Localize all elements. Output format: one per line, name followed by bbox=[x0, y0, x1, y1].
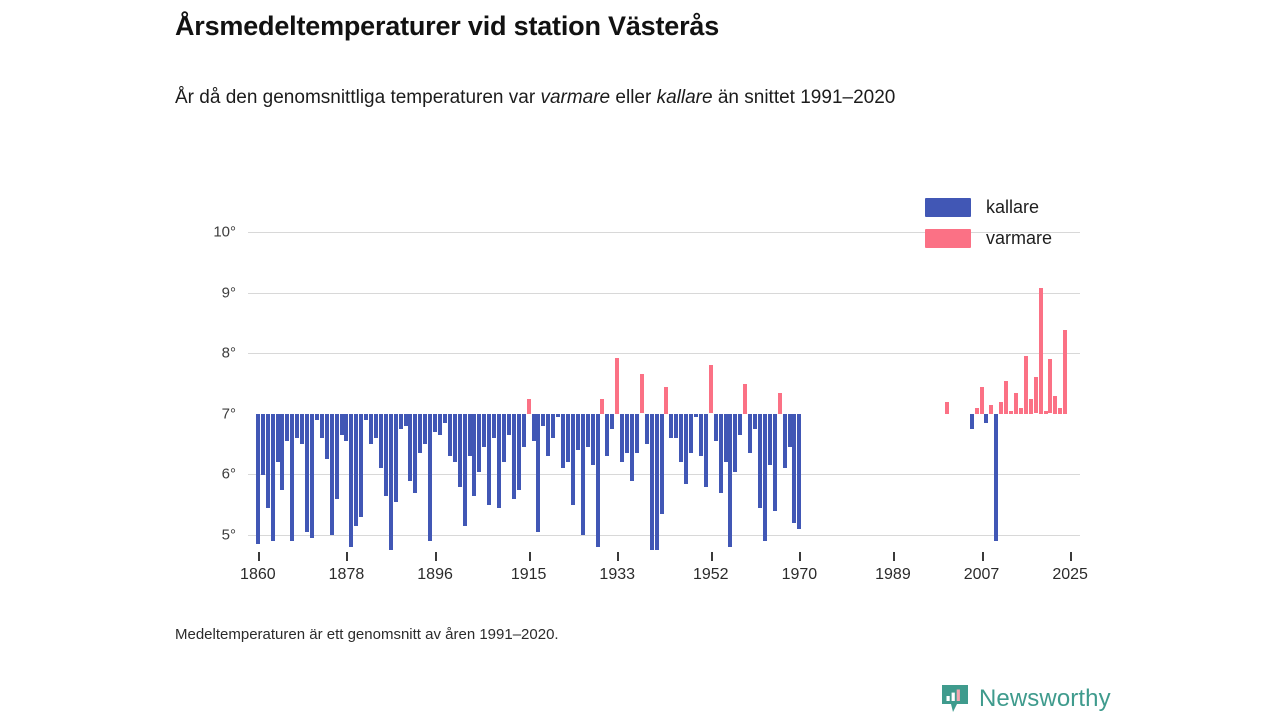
x-axis-tick bbox=[711, 552, 713, 561]
chart-bar[interactable] bbox=[423, 414, 427, 444]
chart-bar[interactable] bbox=[674, 414, 678, 438]
chart-bar[interactable] bbox=[482, 414, 486, 447]
chart-bar[interactable] bbox=[256, 414, 260, 544]
x-axis-tick bbox=[1070, 552, 1072, 561]
chart-bar[interactable] bbox=[325, 414, 329, 459]
chart-bar[interactable] bbox=[492, 414, 496, 438]
chart-bar[interactable] bbox=[502, 414, 506, 462]
chart-bar[interactable] bbox=[1039, 288, 1043, 414]
newsworthy-wordmark: Newsworthy bbox=[979, 685, 1111, 713]
chart-bar[interactable] bbox=[522, 414, 526, 447]
chart-bar[interactable] bbox=[655, 414, 659, 550]
chart-bar[interactable] bbox=[453, 414, 457, 462]
chart-bar[interactable] bbox=[640, 374, 644, 413]
chart-footnote: Medeltemperaturen är ett genomsnitt av å… bbox=[175, 626, 559, 643]
chart-bar[interactable] bbox=[389, 414, 393, 550]
chart-bar[interactable] bbox=[280, 414, 284, 490]
chart-bar[interactable] bbox=[753, 414, 757, 429]
chart-bar[interactable] bbox=[310, 414, 314, 538]
x-axis-label: 1860 bbox=[240, 566, 276, 584]
chart-bar[interactable] bbox=[630, 414, 634, 481]
chart-bar[interactable] bbox=[527, 399, 531, 414]
chart-bar[interactable] bbox=[704, 414, 708, 487]
chart-bar[interactable] bbox=[625, 414, 629, 453]
chart-bar[interactable] bbox=[699, 414, 703, 456]
newsworthy-logo[interactable]: Newsworthy bbox=[941, 684, 1111, 714]
chart-bar[interactable] bbox=[541, 414, 545, 426]
x-axis-tick bbox=[529, 552, 531, 561]
chart-bar[interactable] bbox=[448, 414, 452, 456]
x-axis-tick bbox=[346, 552, 348, 561]
chart-legend: kallare varmare bbox=[925, 193, 1052, 255]
chart-bar[interactable] bbox=[586, 414, 590, 447]
chart-bar[interactable] bbox=[728, 414, 732, 547]
x-axis-label: 1878 bbox=[329, 566, 365, 584]
y-axis-label: 10° bbox=[180, 224, 236, 241]
chart-bar[interactable] bbox=[758, 414, 762, 508]
chart-bar[interactable] bbox=[295, 414, 299, 438]
chart-bar[interactable] bbox=[551, 414, 555, 438]
legend-swatch-varmare-icon bbox=[925, 229, 971, 248]
y-axis-label: 6° bbox=[180, 466, 236, 483]
chart-bar[interactable] bbox=[615, 358, 619, 414]
chart-bar[interactable] bbox=[344, 414, 348, 441]
chart-bar[interactable] bbox=[600, 399, 604, 414]
x-axis-label: 1915 bbox=[511, 566, 547, 584]
chart-bar[interactable] bbox=[364, 414, 368, 420]
chart-bar[interactable] bbox=[1053, 396, 1057, 414]
x-axis-label: 1896 bbox=[417, 566, 453, 584]
chart-bar[interactable] bbox=[635, 414, 639, 453]
chart-bar[interactable] bbox=[664, 387, 668, 414]
chart-bar[interactable] bbox=[546, 414, 550, 456]
x-axis-label: 2007 bbox=[964, 566, 1000, 584]
chart-bar[interactable] bbox=[394, 414, 398, 502]
chart-bar[interactable] bbox=[408, 414, 412, 481]
chart-bar[interactable] bbox=[709, 365, 713, 413]
chart-bar[interactable] bbox=[443, 414, 447, 423]
x-axis-tick bbox=[982, 552, 984, 561]
chart-bar[interactable] bbox=[999, 402, 1003, 414]
chart-bar[interactable] bbox=[576, 414, 580, 450]
chart-bar[interactable] bbox=[620, 414, 624, 462]
chart-bar[interactable] bbox=[369, 414, 373, 444]
chart-bar[interactable] bbox=[980, 387, 984, 414]
chart-bar[interactable] bbox=[536, 414, 540, 532]
chart-bar[interactable] bbox=[1058, 408, 1062, 414]
chart-bar[interactable] bbox=[320, 414, 324, 438]
y-gridline bbox=[248, 353, 1080, 354]
chart-bar[interactable] bbox=[359, 414, 363, 517]
y-axis-label: 7° bbox=[180, 405, 236, 422]
chart-bar[interactable] bbox=[1019, 408, 1023, 414]
chart-bar[interactable] bbox=[1004, 381, 1008, 414]
chart-bar[interactable] bbox=[743, 384, 747, 414]
x-axis-tick bbox=[617, 552, 619, 561]
chart-bar[interactable] bbox=[507, 414, 511, 435]
chart-bar[interactable] bbox=[266, 414, 270, 508]
chart-bar[interactable] bbox=[684, 414, 688, 484]
y-gridline bbox=[248, 293, 1080, 294]
x-axis-tick bbox=[258, 552, 260, 561]
chart-bar[interactable] bbox=[581, 414, 585, 535]
chart-bar[interactable] bbox=[975, 408, 979, 414]
x-axis-tick bbox=[435, 552, 437, 561]
chart-bar[interactable] bbox=[596, 414, 600, 547]
y-axis-label: 8° bbox=[180, 345, 236, 362]
chart-bar[interactable] bbox=[1029, 399, 1033, 414]
chart-bar[interactable] bbox=[349, 414, 353, 547]
chart-bar[interactable] bbox=[945, 402, 949, 414]
y-gridline bbox=[248, 535, 1080, 536]
chart-bar[interactable] bbox=[354, 414, 358, 526]
chart-bar[interactable] bbox=[335, 414, 339, 499]
chart-bar[interactable] bbox=[290, 414, 294, 541]
chart-bar[interactable] bbox=[738, 414, 742, 435]
chart-bar[interactable] bbox=[768, 414, 772, 465]
chart-bar[interactable] bbox=[778, 393, 782, 414]
chart-bar[interactable] bbox=[561, 414, 565, 468]
chart-bar[interactable] bbox=[330, 414, 334, 535]
chart-bar[interactable] bbox=[566, 414, 570, 462]
chart-bar[interactable] bbox=[512, 414, 516, 499]
x-axis-label: 1970 bbox=[782, 566, 818, 584]
x-axis-label: 1989 bbox=[875, 566, 911, 584]
y-axis-label: 5° bbox=[180, 526, 236, 543]
chart-bar[interactable] bbox=[418, 414, 422, 453]
chart-bar[interactable] bbox=[374, 414, 378, 438]
chart-bar[interactable] bbox=[384, 414, 388, 496]
x-axis-label: 1952 bbox=[693, 566, 729, 584]
y-axis-label: 9° bbox=[180, 284, 236, 301]
legend-swatch-kallare-icon bbox=[925, 198, 971, 217]
chart-bar[interactable] bbox=[428, 414, 432, 541]
chart-bar[interactable] bbox=[305, 414, 309, 532]
x-axis-label: 1933 bbox=[599, 566, 635, 584]
chart-bar[interactable] bbox=[477, 414, 481, 472]
chart-bar[interactable] bbox=[458, 414, 462, 487]
chart-bar[interactable] bbox=[497, 414, 501, 508]
chart-bar[interactable] bbox=[748, 414, 752, 453]
chart-bar[interactable] bbox=[689, 414, 693, 453]
chart-bar[interactable] bbox=[719, 414, 723, 493]
temperature-bar-chart: 5°6°7°8°9°10°186018781896191519331952197… bbox=[0, 0, 1280, 720]
chart-bar[interactable] bbox=[438, 414, 442, 435]
chart-bar[interactable] bbox=[315, 414, 319, 420]
chart-bar[interactable] bbox=[679, 414, 683, 462]
chart-bar[interactable] bbox=[591, 414, 595, 465]
chart-bar[interactable] bbox=[1009, 411, 1013, 414]
chart-bar[interactable] bbox=[650, 414, 654, 550]
legend-item-varmare[interactable]: varmare bbox=[925, 224, 1052, 253]
chart-bar[interactable] bbox=[984, 414, 988, 423]
legend-label-kallare: kallare bbox=[986, 197, 1039, 218]
chart-bar[interactable] bbox=[300, 414, 304, 444]
chart-bar[interactable] bbox=[994, 414, 998, 541]
chart-bar[interactable] bbox=[610, 414, 614, 429]
chart-bar[interactable] bbox=[797, 414, 801, 529]
chart-bar[interactable] bbox=[379, 414, 383, 468]
chart-bar[interactable] bbox=[763, 414, 767, 541]
bar-chart-bubble-icon bbox=[941, 684, 969, 714]
chart-bar[interactable] bbox=[1063, 330, 1067, 414]
y-gridline bbox=[248, 474, 1080, 475]
legend-item-kallare[interactable]: kallare bbox=[925, 193, 1052, 222]
chart-bar[interactable] bbox=[694, 414, 698, 417]
chart-bar[interactable] bbox=[605, 414, 609, 456]
x-axis-tick bbox=[799, 552, 801, 561]
chart-bar[interactable] bbox=[271, 414, 275, 541]
chart-bar[interactable] bbox=[463, 414, 467, 526]
chart-bar[interactable] bbox=[472, 414, 476, 496]
chart-bar[interactable] bbox=[261, 414, 265, 475]
chart-bar[interactable] bbox=[413, 414, 417, 493]
chart-bar[interactable] bbox=[556, 414, 560, 417]
chart-bar[interactable] bbox=[1014, 393, 1018, 414]
chart-bar[interactable] bbox=[669, 414, 673, 438]
chart-bar[interactable] bbox=[1048, 359, 1052, 413]
chart-bar[interactable] bbox=[783, 414, 787, 468]
chart-bar[interactable] bbox=[399, 414, 403, 429]
chart-bar[interactable] bbox=[571, 414, 575, 505]
chart-bar[interactable] bbox=[773, 414, 777, 511]
chart-bar[interactable] bbox=[714, 414, 718, 441]
legend-label-varmare: varmare bbox=[986, 228, 1052, 249]
chart-bar[interactable] bbox=[517, 414, 521, 490]
chart-bar[interactable] bbox=[487, 414, 491, 505]
chart-bar[interactable] bbox=[970, 414, 974, 429]
chart-bar[interactable] bbox=[1024, 356, 1028, 414]
x-axis-label: 2025 bbox=[1052, 566, 1088, 584]
chart-bar[interactable] bbox=[989, 405, 993, 414]
chart-bar[interactable] bbox=[792, 414, 796, 523]
chart-bar[interactable] bbox=[645, 414, 649, 444]
chart-bar[interactable] bbox=[1034, 377, 1038, 413]
chart-bar[interactable] bbox=[733, 414, 737, 472]
chart-bar[interactable] bbox=[660, 414, 664, 514]
chart-bar[interactable] bbox=[285, 414, 289, 441]
chart-bar[interactable] bbox=[433, 414, 437, 432]
x-axis-tick bbox=[893, 552, 895, 561]
